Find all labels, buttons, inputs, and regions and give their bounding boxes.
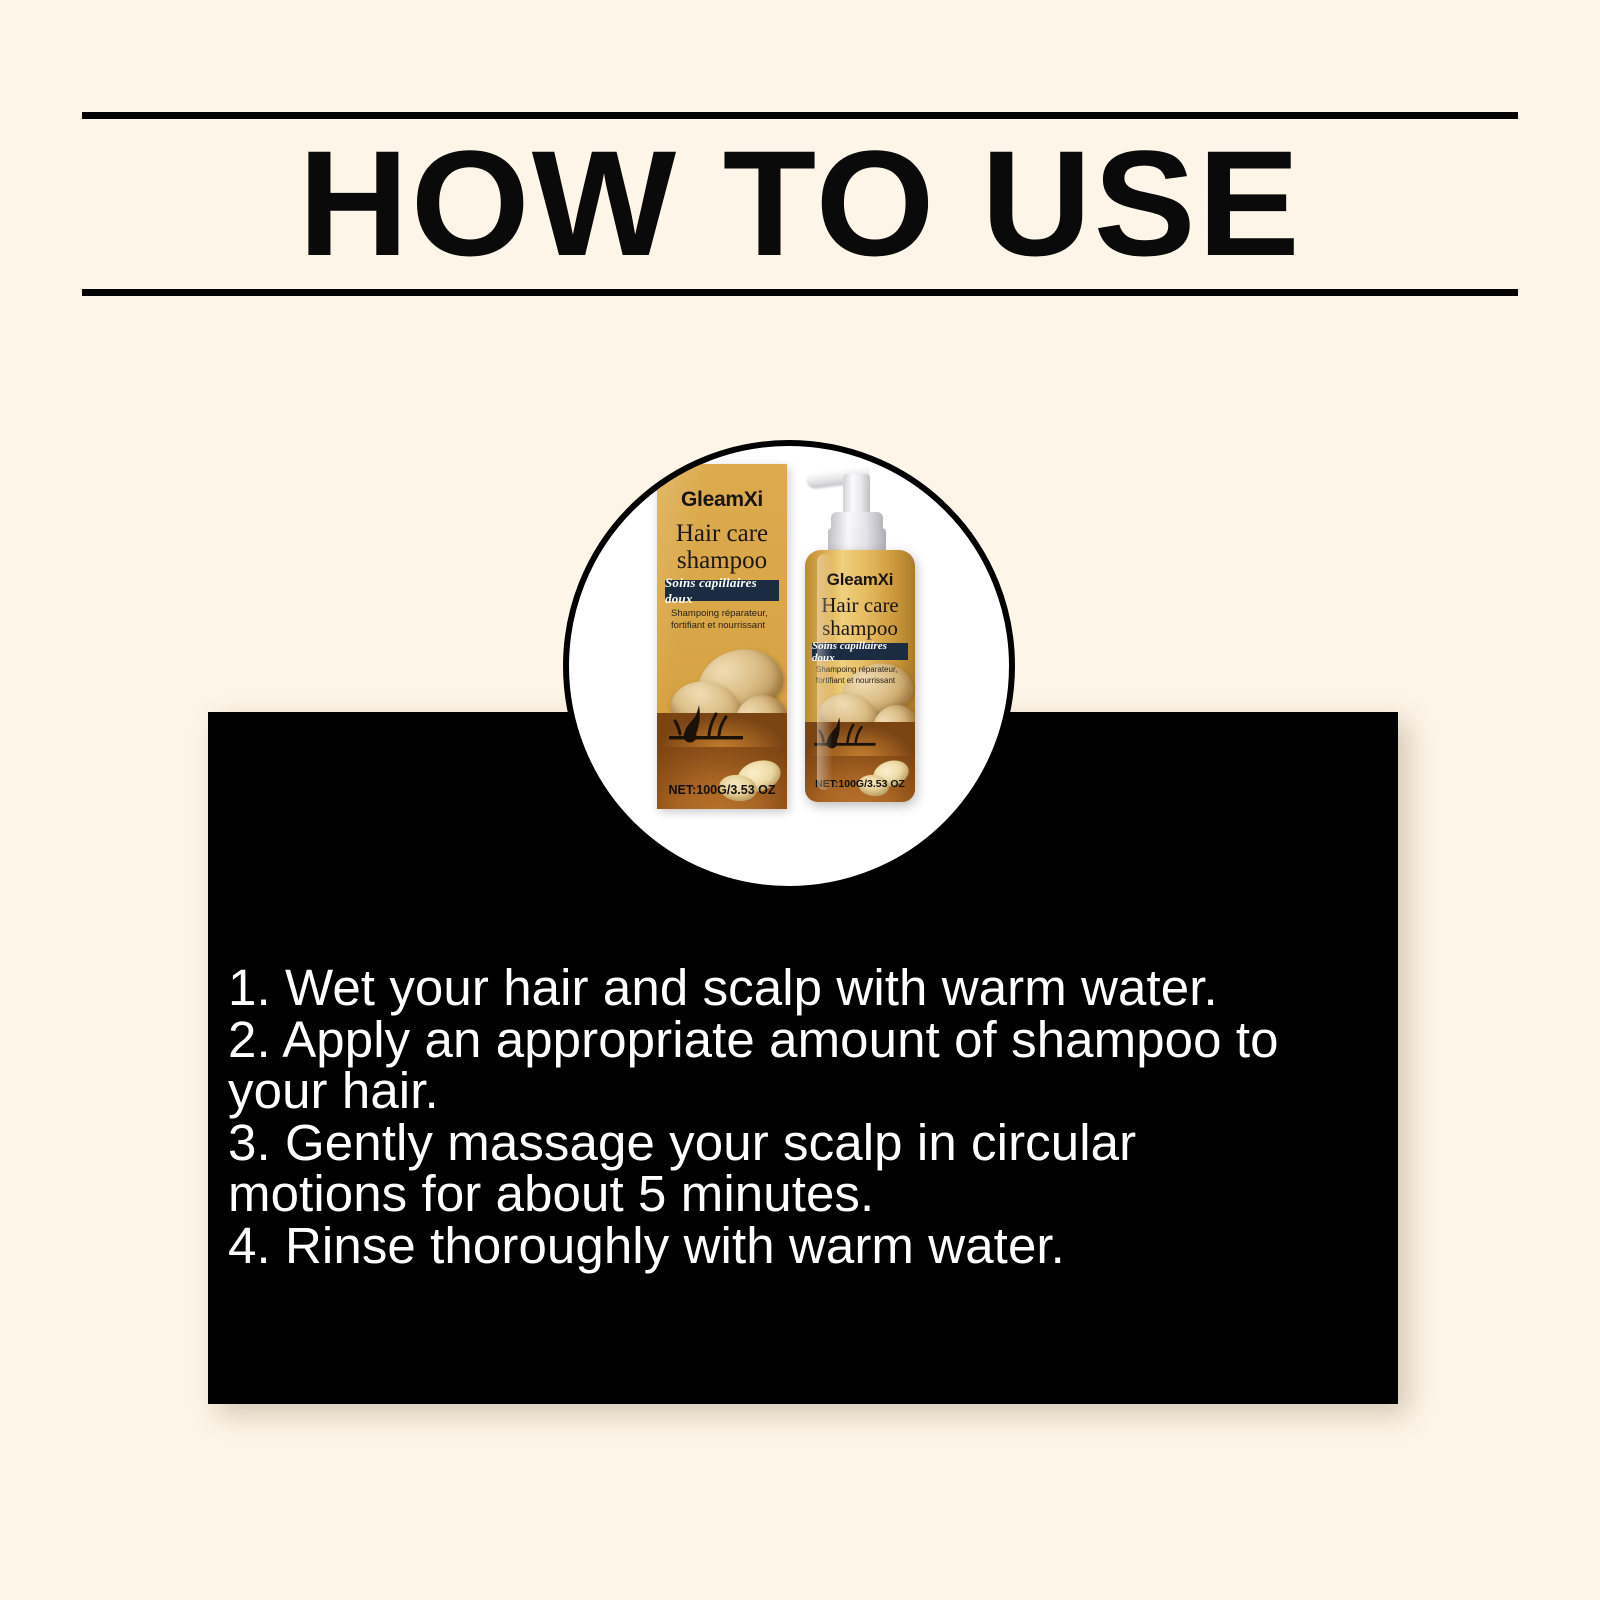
- carton-tagline: Soins capillaires doux: [665, 575, 779, 607]
- product-bottle: GleamXi Hair care shampoo Soins capillai…: [801, 458, 919, 808]
- bottle-tagline: Soins capillaires doux: [812, 640, 908, 664]
- product-scene: GleamXi Hair care shampoo Soins capillai…: [569, 446, 1009, 886]
- bottle-brand: GleamXi: [805, 570, 915, 590]
- product-carton: GleamXi Hair care shampoo Soins capillai…: [657, 464, 787, 809]
- header-rule-top: [82, 112, 1518, 119]
- bottle-description: Shampoing réparateur, fortifiant et nour…: [816, 665, 906, 686]
- hair-follicle-icon: [814, 714, 876, 752]
- header-rule-bottom: [82, 289, 1518, 296]
- bottle-tagline-band: Soins capillaires doux: [812, 643, 908, 660]
- product-image-circle: GleamXi Hair care shampoo Soins capillai…: [563, 440, 1015, 892]
- bottle-name-line2: shampoo: [822, 616, 898, 640]
- bottle-name-line1: Hair care: [821, 593, 899, 617]
- bottle-product-name: Hair care shampoo: [805, 594, 915, 640]
- hair-follicle-icon: [669, 701, 743, 747]
- list-item: 2. Apply an appropriate amount of shampo…: [228, 1014, 1318, 1117]
- page-title: HOW TO USE: [68, 119, 1533, 289]
- bottle-body: GleamXi Hair care shampoo Soins capillai…: [805, 550, 915, 802]
- list-item: 1. Wet your hair and scalp with warm wat…: [228, 962, 1318, 1014]
- carton-brand: GleamXi: [657, 488, 787, 512]
- list-item: 4. Rinse thoroughly with warm water.: [228, 1220, 1318, 1272]
- carton-tagline-band: Soins capillaires doux: [665, 580, 779, 601]
- carton-description: Shampoing réparateur, fortifiant et nour…: [671, 608, 777, 632]
- carton-name-line2: shampoo: [677, 547, 767, 574]
- bottle-net-weight: NET:100G/3.53 OZ: [805, 778, 915, 790]
- page-header: HOW TO USE: [82, 112, 1518, 296]
- list-item: 3. Gently massage your scalp in circular…: [228, 1117, 1318, 1220]
- carton-net-weight: NET:100G/3.53 OZ: [657, 783, 787, 797]
- instructions-list: 1. Wet your hair and scalp with warm wat…: [228, 962, 1318, 1271]
- carton-name-line1: Hair care: [676, 520, 768, 547]
- carton-product-name: Hair care shampoo: [657, 520, 787, 574]
